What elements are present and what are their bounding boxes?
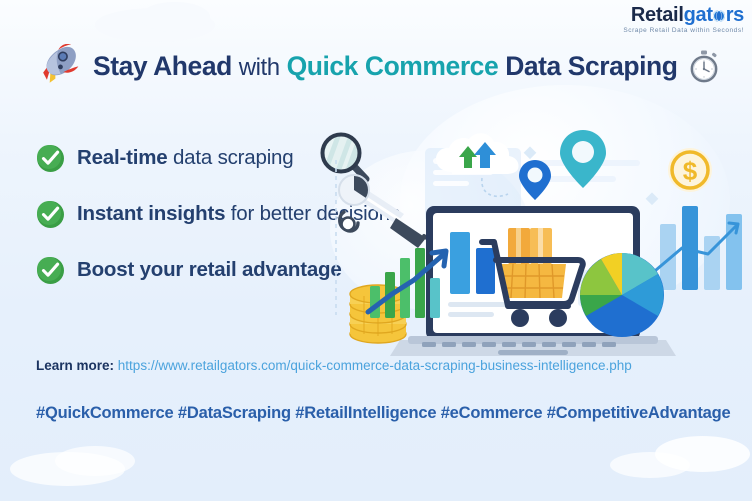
hero-illustration: $ — [330, 120, 752, 360]
logo-wordmark: Retailgatrs — [623, 5, 744, 25]
headline-part-2: with — [239, 54, 280, 81]
headline-part-4: Data Scraping — [505, 51, 677, 81]
brand-logo[interactable]: Retailgatrs Scrape Retail Data within Se… — [623, 5, 744, 35]
cloud-decor — [55, 446, 135, 476]
pie-chart-icon — [580, 253, 664, 337]
cloud-decor — [140, 2, 210, 32]
logo-text-gat: gat — [684, 4, 713, 26]
bar-chart-icon — [656, 206, 742, 290]
cloud-decor — [610, 452, 690, 478]
logo-tagline: Scrape Retail Data within Seconds! — [623, 28, 744, 35]
learn-more-url[interactable]: https://www.retailgators.com/quick-comme… — [118, 358, 632, 373]
dollar-coin-icon: $ — [668, 148, 712, 192]
list-item-label: Real-time data scraping — [77, 146, 293, 170]
list-item-rest: data scraping — [173, 146, 293, 169]
check-circle-icon — [36, 256, 65, 285]
check-circle-icon — [36, 144, 65, 173]
svg-text:$: $ — [683, 156, 698, 186]
globe-icon — [713, 10, 725, 22]
poster-canvas: Retailgatrs Scrape Retail Data within Se… — [0, 0, 752, 501]
hashtag-line: #QuickCommerce #DataScraping #RetailInte… — [36, 404, 730, 423]
logo-text-retail: Retail — [631, 4, 684, 26]
headline: Stay Ahead with Quick Commerce Data Scra… — [36, 44, 721, 88]
check-circle-icon — [36, 200, 65, 229]
list-item-strong: Real-time — [77, 146, 167, 169]
cloud-upload-icon — [436, 133, 519, 174]
learn-more-line: Learn more: https://www.retailgators.com… — [36, 358, 632, 373]
logo-text-rs: rs — [726, 4, 744, 26]
list-item-strong: Boost your retail advantage — [77, 258, 342, 281]
location-pin-icon — [519, 160, 551, 200]
headline-part-3: Quick Commerce — [287, 51, 499, 81]
headline-part-1: Stay Ahead — [93, 51, 232, 81]
stopwatch-icon — [687, 49, 721, 83]
list-item-label: Boost your retail advantage — [77, 258, 342, 282]
headline-text: Stay Ahead with Quick Commerce Data Scra… — [93, 51, 678, 82]
rocket-icon — [36, 44, 84, 88]
list-item-strong: Instant insights — [77, 202, 225, 225]
learn-more-label: Learn more: — [36, 358, 114, 373]
